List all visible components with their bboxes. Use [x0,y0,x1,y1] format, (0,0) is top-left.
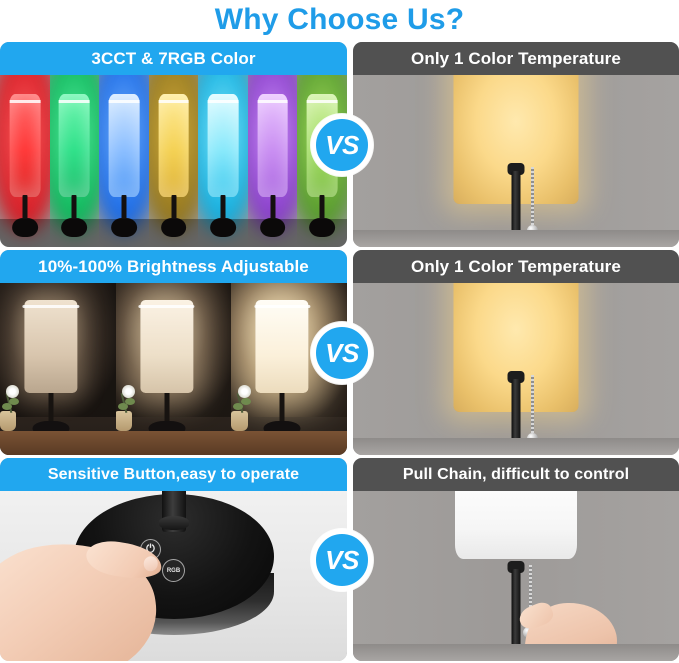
comparison-row-controls: Sensitive Button,easy to operate ⏻ CCT R… [0,458,679,661]
image-warm-lamp-pull-chain-1 [353,75,679,247]
panel-header-brightness-adjustable: 10%-100% Brightness Adjustable [0,250,347,283]
brightness-level-10 [0,283,116,455]
vs-badge-row-1: VS [311,114,373,176]
panel-header-only-1-color-temperature-1: Only 1 Color Temperature [353,42,679,75]
panel-left-color-modes: 3CCT & 7RGB Color [0,42,347,247]
rgb-lamp-green [50,75,100,247]
rgb-lamp-amber [149,75,199,247]
image-seven-rgb-lamps [0,75,347,247]
vs-badge-row-3: VS [311,529,373,591]
vs-badge-row-2: VS [311,322,373,384]
panel-header-pull-chain: Pull Chain, difficult to control [353,458,679,491]
pull-chain [531,375,534,437]
panel-header-sensitive-button: Sensitive Button,easy to operate [0,458,347,491]
image-three-brightness-levels [0,283,347,455]
panel-right-pull-chain: Pull Chain, difficult to control [353,458,679,661]
panel-header-only-1-color-temperature-2: Only 1 Color Temperature [353,250,679,283]
image-hand-pulling-chain [353,491,679,661]
comparison-row-brightness: 10%-100% Brightness Adjustable [0,250,679,455]
panel-right-single-color-temp-1: Only 1 Color Temperature [353,42,679,247]
rgb-lamp-cyan [198,75,248,247]
panel-left-sensitive-button: Sensitive Button,easy to operate ⏻ CCT R… [0,458,347,661]
image-touch-button-base: ⏻ CCT RGB [0,491,347,661]
panel-header-3cct-7rgb: 3CCT & 7RGB Color [0,42,347,75]
comparison-row-color-modes: 3CCT & 7RGB Color [0,42,679,247]
rgb-lamp-blue [99,75,149,247]
brightness-level-55 [116,283,232,455]
comparison-grid: 3CCT & 7RGB Color [0,42,679,661]
image-warm-lamp-pull-chain-2 [353,283,679,455]
rgb-lamp-purple [248,75,298,247]
rgb-button[interactable]: RGB [162,559,185,582]
pull-chain [531,167,534,229]
panel-left-brightness: 10%-100% Brightness Adjustable [0,250,347,455]
white-lamp-shade [455,491,577,559]
panel-right-single-color-temp-2: Only 1 Color Temperature [353,250,679,455]
page-title: Why Choose Us? [0,0,679,42]
rgb-lamp-red [0,75,50,247]
